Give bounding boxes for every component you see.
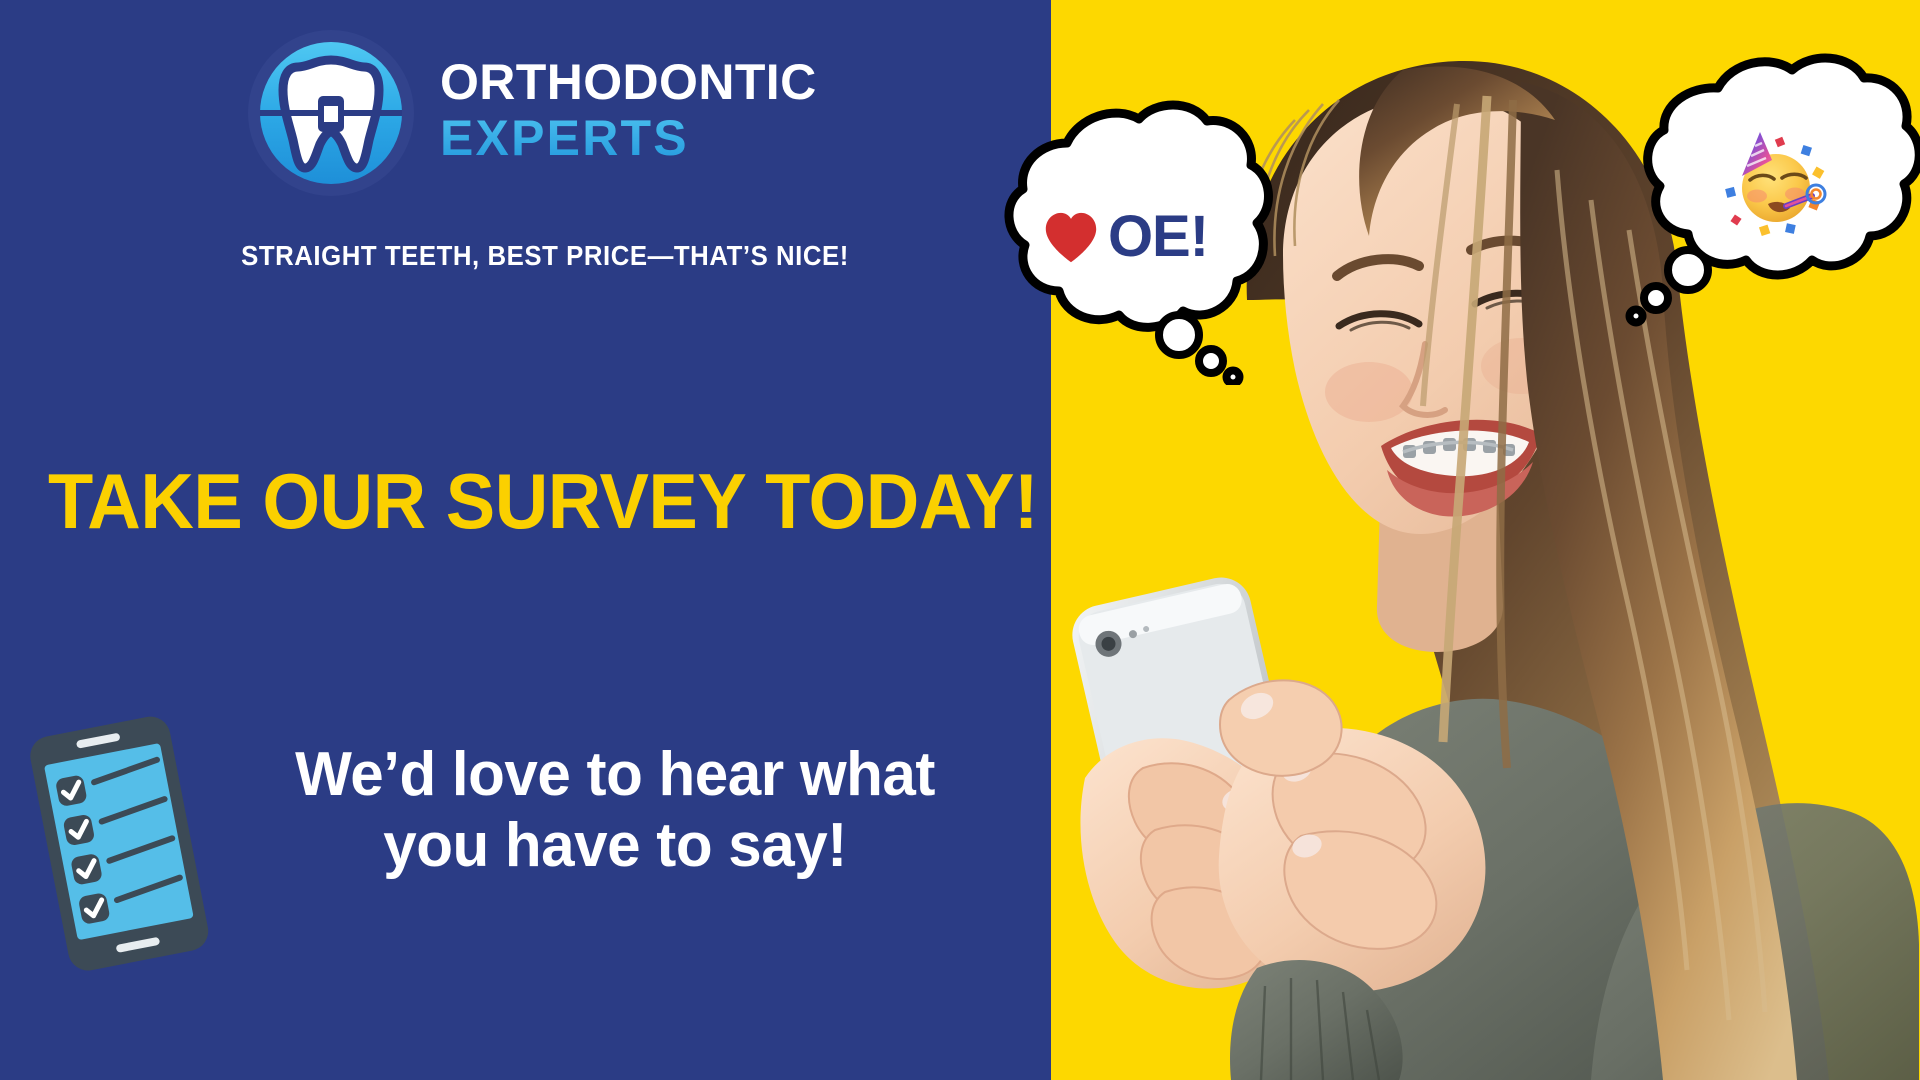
survey-promo-banner: ORTHODONTIC EXPERTS STRAIGHT TEETH, BEST… [0, 0, 1920, 1080]
subheadline-line-2: you have to say! [212, 811, 1017, 882]
brand-name-line-1: ORTHODONTIC [440, 57, 817, 108]
heart-icon [1042, 210, 1100, 264]
brand-tagline: STRAIGHT TEETH, BEST PRICE—THAT’S NICE! [214, 240, 876, 272]
tooth-with-braces-icon [248, 30, 414, 196]
oe-bubble-text: OE! [1108, 208, 1208, 266]
survey-checklist-phone-icon [22, 712, 222, 972]
headline: TAKE OUR SURVEY TODAY! [48, 462, 1038, 540]
brand-name-line-2: EXPERTS [440, 108, 817, 169]
brand-logo: ORTHODONTIC EXPERTS [248, 30, 817, 196]
brand-wordmark: ORTHODONTIC EXPERTS [440, 57, 817, 169]
subheadline-line-1: We’d love to hear what [212, 740, 1017, 811]
thought-bubble-oe: OE! [975, 95, 1275, 385]
oe-bubble-content: OE! [1025, 197, 1225, 277]
thought-bubble-emoji [1620, 48, 1920, 338]
subheadline: We’d love to hear what you have to say! [212, 740, 1017, 881]
partying-face-emoji [1716, 126, 1834, 244]
